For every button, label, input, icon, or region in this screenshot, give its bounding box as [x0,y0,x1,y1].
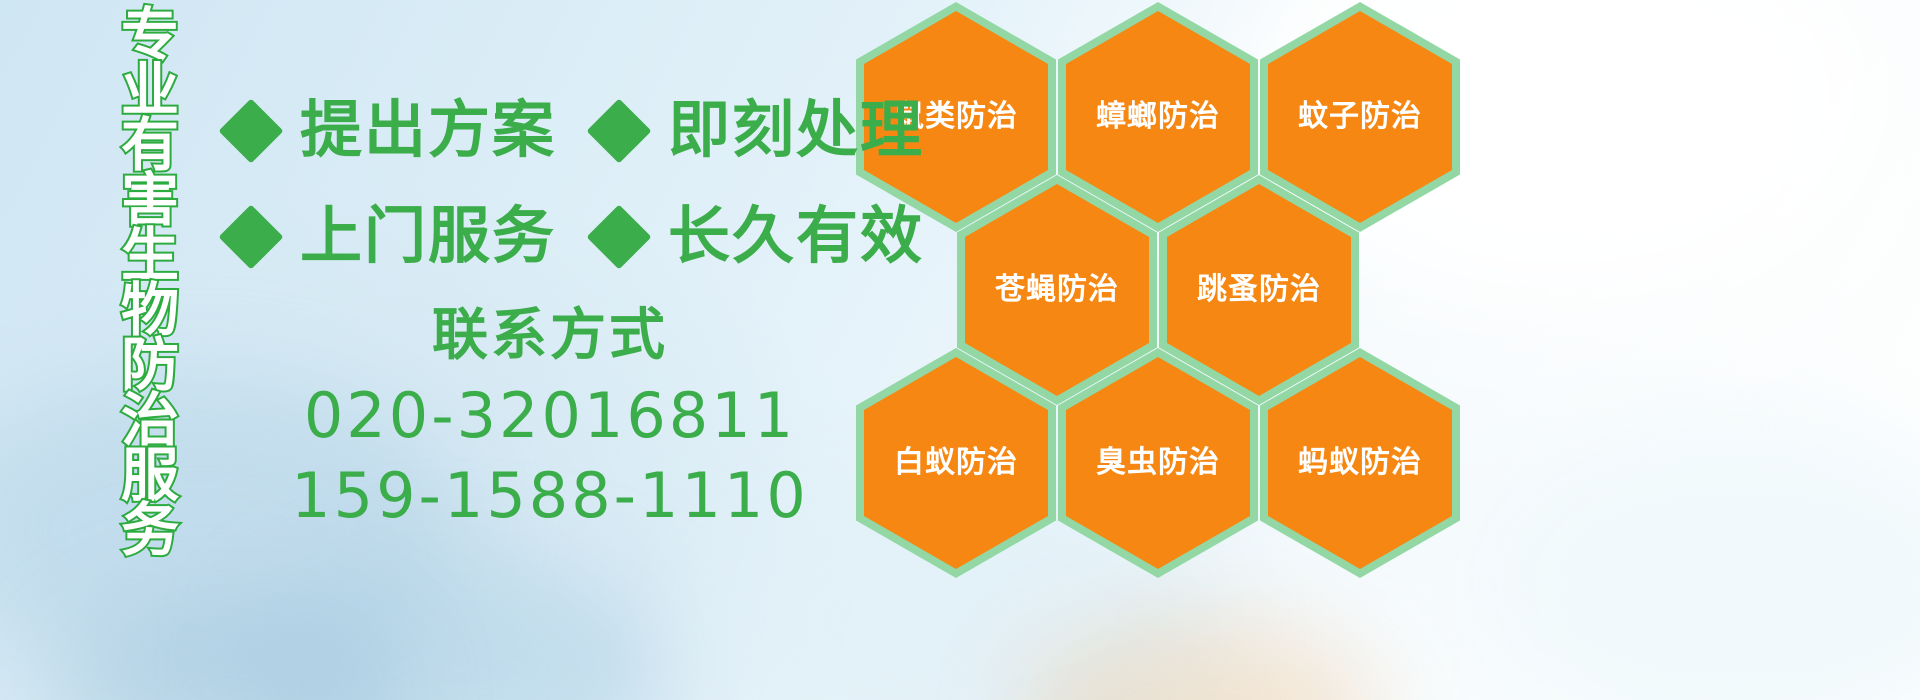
contact-title: 联系方式 [230,300,870,370]
diamond-icon [218,98,283,163]
diamond-icon [586,204,651,269]
contact-block: 联系方式 020-32016811 159-1588-1110 [230,300,870,536]
service-hexagon-label: 白蚁防治 [894,448,1018,478]
feature-item: 提出方案 [228,100,556,162]
vertical-title: 专 业 有 害 生 物 防 治 服 务 [104,8,196,568]
phone-number-landline[interactable]: 020-32016811 [230,376,870,456]
vertical-title-char: 物 [121,283,179,338]
background-blob [60,600,400,700]
service-hexagon-label: 蟑螂防治 [1096,102,1220,132]
service-hexagon-label: 跳蚤防治 [1197,275,1321,305]
vertical-title-char: 业 [121,63,179,118]
background-blob [1480,420,1920,700]
background-blob [1020,620,1380,700]
service-hexagon-label: 臭虫防治 [1096,448,1220,478]
vertical-title-char: 治 [121,393,179,448]
vertical-title-char: 有 [121,118,179,173]
service-hexagon-label: 蚊子防治 [1298,102,1422,132]
diamond-icon [218,204,283,269]
feature-label: 长久有效 [668,206,924,268]
vertical-title-char: 防 [121,338,179,393]
vertical-title-char: 务 [121,503,179,558]
feature-row: 提出方案 即刻处理 [228,78,924,184]
vertical-title-char: 生 [121,228,179,283]
feature-label: 上门服务 [300,206,556,268]
background-blob [250,560,670,700]
feature-item: 长久有效 [596,206,924,268]
feature-label: 提出方案 [300,100,556,162]
feature-row: 上门服务 长久有效 [228,184,924,290]
phone-number-mobile[interactable]: 159-1588-1110 [230,456,870,536]
vertical-title-char: 专 [121,8,179,63]
feature-label: 即刻处理 [668,100,924,162]
vertical-title-char: 服 [121,448,179,503]
pest-control-banner: 专 业 有 害 生 物 防 治 服 务 提出方案 即刻处理 上门服务 [0,0,1920,700]
diamond-icon [586,98,651,163]
feature-item: 即刻处理 [596,100,924,162]
feature-list: 提出方案 即刻处理 上门服务 长久有效 [228,78,924,290]
service-hexagon-grid: 鼠类防治 蟑螂防治 蚊子防治 苍蝇防治 跳蚤防治 白蚁防治 臭虫防治 蚂蚁防治 [856,0,1476,556]
service-hexagon-label: 苍蝇防治 [995,275,1119,305]
vertical-title-char: 害 [121,173,179,228]
feature-item: 上门服务 [228,206,556,268]
service-hexagon-label: 蚂蚁防治 [1298,448,1422,478]
